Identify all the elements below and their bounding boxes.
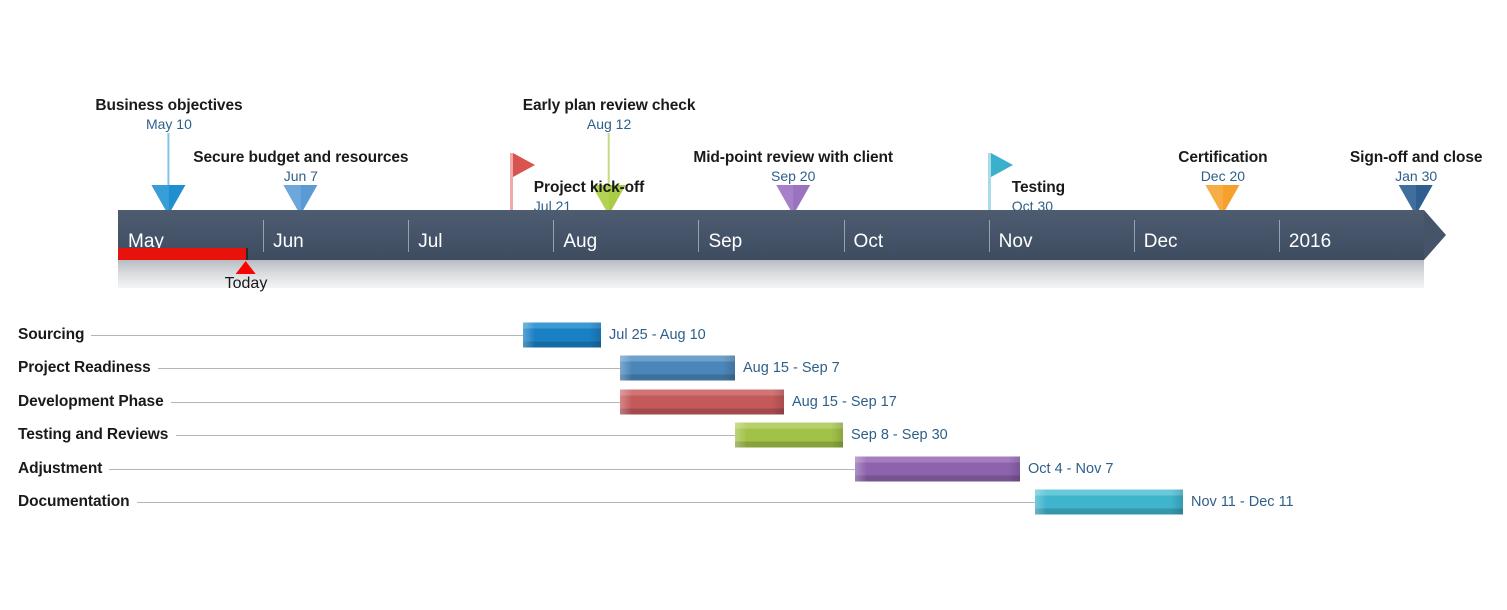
milestone-stem: [608, 133, 610, 185]
task-leader-line: [109, 469, 855, 470]
today-triangle-icon: [236, 261, 256, 274]
gantt-chart-canvas: Business objectivesMay 10Secure budget a…: [0, 0, 1507, 610]
milestone[interactable]: Sign-off and closeJan 30: [1350, 149, 1483, 215]
task-bar-bevel-l: [620, 389, 632, 414]
milestone-layer: Business objectivesMay 10Secure budget a…: [0, 0, 1507, 215]
task-bar[interactable]: [1035, 490, 1183, 515]
milestone-title: Early plan review check: [523, 97, 696, 114]
task-label: Adjustment: [18, 460, 102, 478]
today-label: Today: [225, 275, 268, 293]
task-date-range: Jul 25 - Aug 10: [609, 327, 706, 343]
task-bar[interactable]: [735, 423, 843, 448]
task-label: Project Readiness: [18, 359, 151, 377]
task-bar-bevel-t: [1035, 490, 1183, 496]
task-bar-bevel-b: [855, 475, 1020, 481]
task-bar-bevel-l: [1035, 490, 1047, 515]
milestone[interactable]: Secure budget and resourcesJun 7: [193, 149, 408, 215]
task-label: Documentation: [18, 493, 130, 511]
task-date-range: Nov 11 - Dec 11: [1191, 494, 1294, 510]
milestone-date: Aug 12: [523, 116, 696, 133]
task-bar-bevel-b: [1035, 509, 1183, 515]
month-tick-label-jul: Jul: [418, 231, 442, 253]
month-separator: [1279, 220, 1280, 252]
task-bar-bevel-l: [855, 456, 867, 481]
milestone-title: Sign-off and close: [1350, 149, 1483, 166]
task-bar-bevel-l: [523, 322, 535, 347]
task-bar-bevel-r: [589, 322, 601, 347]
month-tick-label-dec: Dec: [1144, 231, 1178, 253]
elapsed-progress-bar: [118, 248, 248, 260]
task-row[interactable]: AdjustmentOct 4 - Nov 7: [0, 452, 1507, 486]
month-separator: [698, 220, 699, 252]
month-tick-label-jun: Jun: [273, 231, 304, 253]
milestone[interactable]: CertificationDec 20: [1178, 149, 1267, 215]
milestone-stem: [168, 133, 170, 185]
task-bar-bevel-r: [723, 356, 735, 381]
task-bar-bevel-r: [772, 389, 784, 414]
task-bar[interactable]: [523, 322, 601, 347]
milestone-title: Certification: [1178, 149, 1267, 166]
task-row[interactable]: Testing and ReviewsSep 8 - Sep 30: [0, 419, 1507, 453]
milestone-date: May 10: [95, 116, 242, 133]
task-row[interactable]: Development PhaseAug 15 - Sep 17: [0, 385, 1507, 419]
month-separator: [1134, 220, 1135, 252]
task-bar-bevel-l: [735, 423, 747, 448]
milestone-title: Testing: [1012, 179, 1065, 196]
milestone-date: Sep 20: [693, 168, 893, 185]
task-leader-line: [171, 402, 620, 403]
task-bar[interactable]: [620, 356, 735, 381]
milestone-title: Mid-point review with client: [693, 149, 893, 166]
task-bar-bevel-t: [620, 356, 735, 362]
month-tick-label-oct: Oct: [854, 231, 884, 253]
task-bar-bevel-b: [620, 408, 784, 414]
task-label: Testing and Reviews: [18, 426, 168, 444]
month-tick-label-nov: Nov: [999, 231, 1033, 253]
task-leader-line: [137, 502, 1035, 503]
flag-banner: [513, 153, 535, 177]
milestone-date: Dec 20: [1178, 168, 1267, 185]
milestone[interactable]: Mid-point review with clientSep 20: [693, 149, 893, 215]
task-date-range: Aug 15 - Sep 7: [743, 360, 840, 376]
task-bar-bevel-t: [620, 389, 784, 395]
month-separator: [844, 220, 845, 252]
flag-banner: [991, 153, 1013, 177]
task-leader-line: [176, 435, 735, 436]
task-label: Development Phase: [18, 393, 164, 411]
today-marker: Today: [225, 261, 268, 293]
task-bar-bevel-r: [1171, 490, 1183, 515]
milestone-date: Jan 30: [1350, 168, 1483, 185]
milestone-title: Business objectives: [95, 97, 242, 114]
task-bar-bevel-b: [735, 442, 843, 448]
task-date-range: Aug 15 - Sep 17: [792, 394, 897, 410]
task-date-range: Sep 8 - Sep 30: [851, 427, 948, 443]
timeline-axis-bar: MayJunJulAugSepOctNovDec2016: [118, 210, 1424, 260]
milestone-date: Jun 7: [193, 168, 408, 185]
task-bar[interactable]: [855, 456, 1020, 481]
task-bar[interactable]: [620, 389, 784, 414]
task-row[interactable]: DocumentationNov 11 - Dec 11: [0, 486, 1507, 520]
task-bar-bevel-r: [1008, 456, 1020, 481]
milestone-title: Project kick-off: [534, 179, 644, 196]
month-tick-label-sep: Sep: [708, 231, 742, 253]
task-date-range: Oct 4 - Nov 7: [1028, 461, 1113, 477]
task-row[interactable]: SourcingJul 25 - Aug 10: [0, 318, 1507, 352]
timeline-arrow-head: [1424, 210, 1446, 260]
task-list: SourcingJul 25 - Aug 10Project Readiness…: [0, 318, 1507, 519]
task-bar-bevel-l: [620, 356, 632, 381]
month-separator: [408, 220, 409, 252]
task-bar-bevel-b: [620, 375, 735, 381]
month-tick-label-aug: Aug: [563, 231, 597, 253]
task-leader-line: [158, 368, 620, 369]
month-separator: [553, 220, 554, 252]
task-label: Sourcing: [18, 326, 84, 344]
task-bar-bevel-t: [735, 423, 843, 429]
month-tick-label-2016: 2016: [1289, 231, 1331, 253]
task-bar-bevel-r: [831, 423, 843, 448]
month-separator: [989, 220, 990, 252]
task-row[interactable]: Project ReadinessAug 15 - Sep 7: [0, 352, 1507, 386]
task-bar-bevel-t: [855, 456, 1020, 462]
month-separator: [263, 220, 264, 252]
milestone-title: Secure budget and resources: [193, 149, 408, 166]
timeline-shadow-strip: [118, 260, 1424, 288]
task-leader-line: [91, 335, 523, 336]
